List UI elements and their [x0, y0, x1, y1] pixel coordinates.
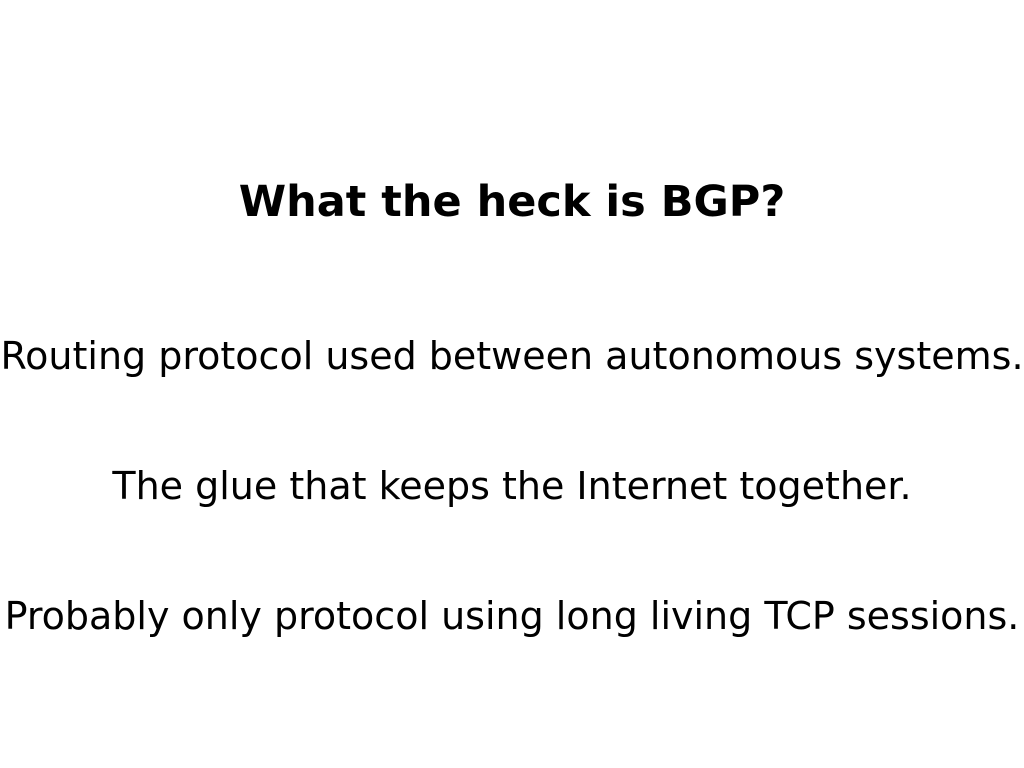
presentation-slide: What the heck is BGP? Routing protocol u…	[0, 0, 1024, 768]
body-line-2: The glue that keeps the Internet togethe…	[0, 440, 1024, 532]
slide-body: Routing protocol used between autonomous…	[0, 272, 1024, 700]
body-line-3: Probably only protocol using long living…	[0, 570, 1024, 662]
body-line-1: Routing protocol used between autonomous…	[0, 310, 1024, 402]
page-title: What the heck is BGP?	[0, 181, 1024, 224]
